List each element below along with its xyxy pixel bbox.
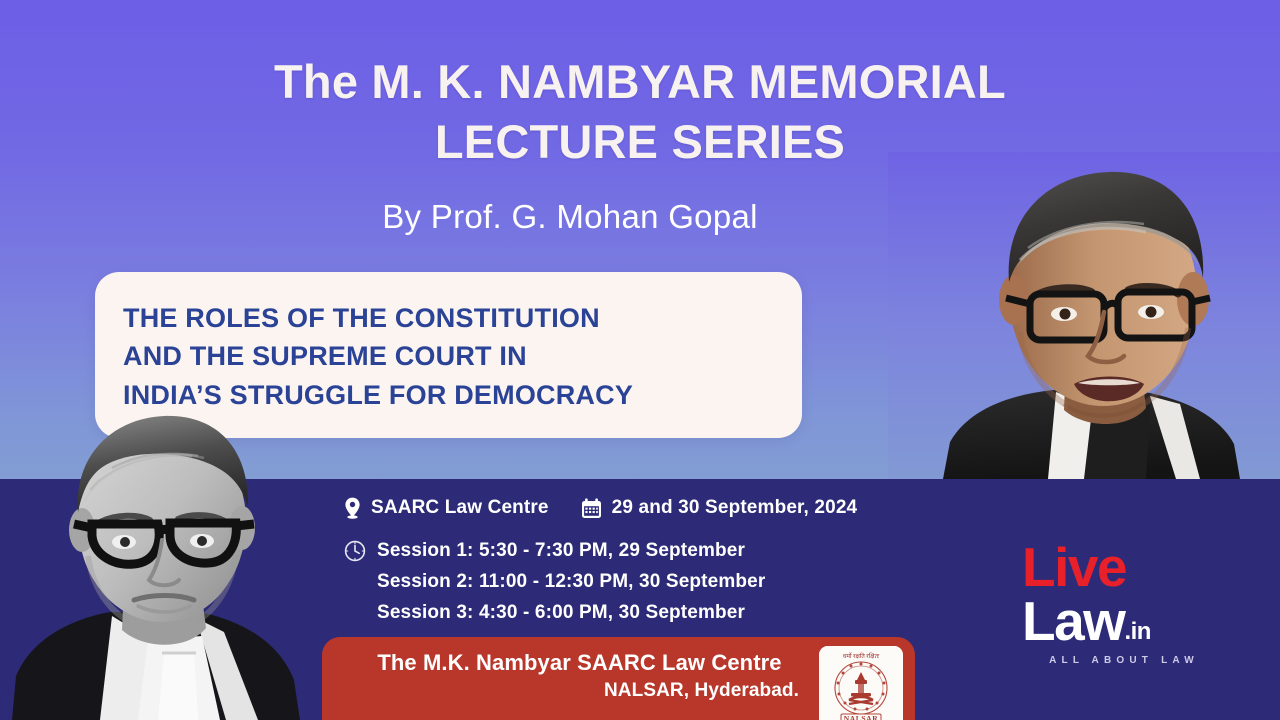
speaker-byline: By Prof. G. Mohan Gopal: [150, 198, 990, 236]
session-item-1: Session 1: 5:30 - 7:30 PM, 29 September: [377, 536, 765, 567]
livelaw-tagline: ALL ABOUT LAW: [1022, 655, 1222, 666]
svg-text:NALSAR: NALSAR: [844, 714, 878, 720]
date-label: 29 and 30 September, 2024: [612, 497, 858, 519]
venue-label: SAARC Law Centre: [371, 497, 549, 519]
organizer-location: NALSAR, Hyderabad.: [352, 680, 807, 702]
headline-line-2: LECTURE SERIES: [150, 112, 1130, 172]
clock-icon: [344, 540, 366, 562]
poster-headline: The M. K. NAMBYAR MEMORIAL LECTURE SERIE…: [150, 52, 1130, 172]
nalsar-university-logo: धर्मो रक्षति रक्षितः: [819, 646, 903, 720]
livelaw-domain-suffix: .in: [1124, 621, 1151, 648]
livelaw-logo[interactable]: Live Law .in ALL ABOUT LAW: [1022, 541, 1222, 659]
headline-line-1: The M. K. NAMBYAR MEMORIAL: [150, 52, 1130, 112]
lecture-title-text: THE ROLES OF THE CONSTITUTION AND THE SU…: [123, 299, 783, 414]
event-details: SAARC Law Centre: [344, 494, 857, 629]
livelaw-word-law: Law: [1022, 595, 1124, 647]
venue-and-date-row: SAARC Law Centre: [344, 494, 857, 522]
organizer-banner: The M.K. Nambyar SAARC Law Centre NALSAR…: [322, 637, 915, 720]
livelaw-law-row: Law .in: [1022, 595, 1222, 647]
session-item-2: Session 2: 11:00 - 12:30 PM, 30 Septembe…: [377, 567, 765, 598]
sessions-block: Session 1: 5:30 - 7:30 PM, 29 September …: [344, 536, 857, 629]
lecture-title-line-2: AND THE SUPREME COURT IN: [123, 337, 783, 375]
session-item-3: Session 3: 4:30 - 6:00 PM, 30 September: [377, 598, 765, 629]
nambyar-portrait: [12, 404, 312, 720]
organizer-name: The M.K. Nambyar SAARC Law Centre: [352, 650, 807, 676]
lecture-poster: The M. K. NAMBYAR MEMORIAL LECTURE SERIE…: [0, 0, 1280, 720]
calendar-icon: [581, 498, 602, 519]
location-pin-icon: [344, 497, 361, 519]
organizer-banner-text: The M.K. Nambyar SAARC Law Centre NALSAR…: [352, 650, 807, 702]
livelaw-word-live: Live: [1022, 541, 1222, 593]
sessions-list: Session 1: 5:30 - 7:30 PM, 29 September …: [377, 536, 765, 629]
lecture-title-line-1: THE ROLES OF THE CONSTITUTION: [123, 299, 783, 337]
svg-text:धर्मो रक्षति रक्षितः: धर्मो रक्षति रक्षितः: [843, 652, 880, 660]
